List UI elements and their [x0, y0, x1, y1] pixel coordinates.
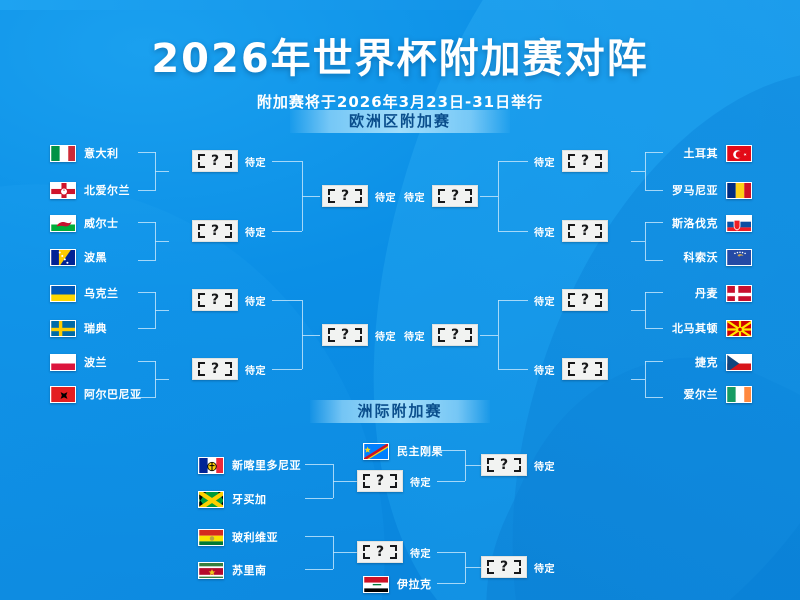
bolivia-flag: [198, 529, 224, 546]
tbd-slot[interactable]: ? 待定: [357, 541, 431, 563]
tbd-label: 待定: [534, 362, 555, 377]
page-title: 2026年世界杯附加赛对阵: [0, 26, 800, 84]
question-mark-icon: ?: [562, 150, 608, 172]
bracket-line: [437, 450, 465, 451]
poland-flag: [50, 354, 76, 371]
albania-flag: [50, 386, 76, 403]
tbd-slot[interactable]: ? 待定: [192, 358, 266, 380]
header: 2026年世界杯附加赛对阵 附加赛将于2026年3月23日-31日举行: [0, 26, 800, 112]
bracket-line: [155, 241, 169, 242]
bracket-line: [645, 361, 663, 362]
bracket-line: [498, 161, 528, 162]
team-row[interactable]: 波兰: [50, 352, 107, 372]
tbd-slot[interactable]: ? 待定: [534, 358, 608, 380]
tbd-label: 待定: [534, 154, 555, 169]
team-name: 土耳其: [684, 145, 719, 161]
tbd-slot[interactable]: ? 待定: [534, 289, 608, 311]
team-row[interactable]: 波黑: [50, 247, 107, 267]
tbd-slot[interactable]: ? 待定: [192, 220, 266, 242]
page-subtitle: 附加赛将于2026年3月23日-31日举行: [0, 91, 800, 112]
team-row[interactable]: 科索沃: [684, 247, 753, 267]
team-row[interactable]: 威尔士: [50, 213, 119, 233]
bracket-line: [498, 300, 499, 369]
bracket-line: [138, 222, 156, 223]
question-mark-icon: ?: [192, 289, 238, 311]
team-row[interactable]: 牙买加: [198, 489, 267, 509]
team-row[interactable]: 民主刚果: [363, 441, 443, 461]
question-mark-icon: ?: [481, 556, 527, 578]
bracket-line: [272, 161, 302, 162]
tbd-label: 待定: [245, 224, 266, 239]
bracket-line: [645, 328, 663, 329]
kosovo-flag: [726, 249, 752, 266]
bracket-line: [155, 171, 169, 172]
team-name: 捷克: [695, 354, 718, 370]
team-name: 北爱尔兰: [84, 182, 130, 198]
team-name: 苏里南: [232, 562, 267, 578]
bracket-line: [480, 196, 498, 197]
team-row[interactable]: 北爱尔兰: [50, 180, 130, 200]
bracket-line: [305, 464, 333, 465]
question-mark-icon: ?: [562, 289, 608, 311]
team-row[interactable]: 玻利维亚: [198, 527, 278, 547]
section-banner-europe: 欧洲区附加赛: [290, 110, 510, 133]
tbd-label: 待定: [245, 293, 266, 308]
team-row[interactable]: 北马其顿: [672, 318, 752, 338]
bracket-line: [480, 335, 498, 336]
dr-congo-flag: [363, 443, 389, 460]
new-caledonia-flag: [198, 457, 224, 474]
question-mark-icon: ?: [357, 541, 403, 563]
tbd-label: 待定: [245, 362, 266, 377]
bracket-line: [437, 481, 465, 482]
team-name: 威尔士: [84, 215, 119, 231]
northern-ireland-flag: [50, 182, 76, 199]
team-row[interactable]: 斯洛伐克: [672, 213, 752, 233]
bracket-line: [631, 310, 645, 311]
tbd-slot[interactable]: ? 待定: [322, 324, 396, 346]
bracket-line: [272, 369, 302, 370]
bosnia-flag: [50, 249, 76, 266]
bracket-line: [465, 567, 481, 568]
bracket-line: [138, 361, 156, 362]
team-name: 科索沃: [684, 249, 719, 265]
team-name: 伊拉克: [397, 576, 432, 592]
bracket-line: [333, 481, 357, 482]
team-row[interactable]: 捷克: [695, 352, 752, 372]
bracket-line: [645, 152, 663, 153]
slovakia-flag: [726, 215, 752, 232]
bracket-line: [437, 583, 465, 584]
bracket-line: [138, 152, 156, 153]
turkey-flag: [726, 145, 752, 162]
tbd-slot[interactable]: ? 待定: [322, 185, 396, 207]
team-row[interactable]: 苏里南: [198, 560, 267, 580]
question-mark-icon: ?: [562, 220, 608, 242]
bracket-line: [631, 171, 645, 172]
team-row[interactable]: 乌克兰: [50, 283, 119, 303]
question-mark-icon: ?: [192, 358, 238, 380]
north-macedonia-flag: [726, 320, 752, 337]
question-mark-icon: ?: [322, 324, 368, 346]
question-mark-icon: ?: [322, 185, 368, 207]
czech-flag: [726, 354, 752, 371]
tbd-slot[interactable]: ? 待定: [534, 150, 608, 172]
tbd-slot[interactable]: ? 待定: [404, 185, 478, 207]
question-mark-icon: ?: [192, 150, 238, 172]
team-row[interactable]: 土耳其: [684, 143, 753, 163]
team-name: 斯洛伐克: [672, 215, 718, 231]
playoff-bracket-infographic: 2026年世界杯附加赛对阵 附加赛将于2026年3月23日-31日举行 欧洲区附…: [0, 0, 800, 600]
wales-flag: [50, 215, 76, 232]
bracket-line: [465, 465, 481, 466]
tbd-label: 待定: [410, 545, 431, 560]
bracket-line: [272, 300, 302, 301]
tbd-label: 待定: [404, 328, 425, 343]
bracket-line: [645, 260, 663, 261]
question-mark-icon: ?: [562, 358, 608, 380]
team-name: 爱尔兰: [684, 386, 719, 402]
ukraine-flag: [50, 285, 76, 302]
bracket-line: [305, 536, 333, 537]
team-name: 玻利维亚: [232, 529, 278, 545]
team-name: 丹麦: [695, 285, 718, 301]
bracket-line: [138, 397, 156, 398]
team-name: 阿尔巴尼亚: [84, 386, 142, 402]
bracket-line: [305, 498, 333, 499]
ireland-flag: [726, 386, 752, 403]
tbd-slot[interactable]: ? 待定: [534, 220, 608, 242]
tbd-label: 待定: [404, 189, 425, 204]
bracket-line: [631, 379, 645, 380]
tbd-slot[interactable]: ? 待定: [404, 324, 478, 346]
bracket-line: [645, 397, 663, 398]
question-mark-icon: ?: [432, 324, 478, 346]
bracket-line: [272, 231, 302, 232]
bracket-line: [631, 241, 645, 242]
bracket-line: [645, 222, 646, 260]
bracket-line: [498, 161, 499, 231]
bracket-line: [333, 552, 357, 553]
team-row[interactable]: 丹麦: [695, 283, 752, 303]
team-row[interactable]: 意大利: [50, 143, 119, 163]
question-mark-icon: ?: [192, 220, 238, 242]
bracket-line: [645, 292, 663, 293]
bracket-line: [645, 361, 646, 397]
sweden-flag: [50, 320, 76, 337]
team-name: 瑞典: [84, 320, 107, 336]
team-row[interactable]: 罗马尼亚: [672, 180, 752, 200]
tbd-label: 待定: [245, 154, 266, 169]
section-banner-intercontinental: 洲际附加赛: [310, 400, 490, 423]
team-name: 新喀里多尼亚: [232, 457, 301, 473]
tbd-slot[interactable]: ? 待定: [481, 556, 555, 578]
bracket-line: [155, 379, 169, 380]
bracket-line: [645, 222, 663, 223]
team-row[interactable]: 新喀里多尼亚: [198, 455, 301, 475]
italy-flag: [50, 145, 76, 162]
tbd-label: 待定: [534, 224, 555, 239]
team-row[interactable]: 伊拉克: [363, 574, 432, 594]
bracket-line: [138, 328, 156, 329]
team-row[interactable]: 爱尔兰: [684, 384, 753, 404]
question-mark-icon: ?: [357, 470, 403, 492]
bracket-line: [155, 310, 169, 311]
tbd-slot[interactable]: ? 待定: [192, 289, 266, 311]
team-name: 罗马尼亚: [672, 182, 718, 198]
tbd-slot[interactable]: ? 待定: [192, 150, 266, 172]
team-name: 意大利: [84, 145, 119, 161]
romania-flag: [726, 182, 752, 199]
team-name: 北马其顿: [672, 320, 718, 336]
tbd-label: 待定: [410, 474, 431, 489]
bracket-line: [645, 292, 646, 328]
tbd-label: 待定: [534, 293, 555, 308]
team-name: 乌克兰: [84, 285, 119, 301]
bracket-line: [645, 152, 646, 190]
bracket-line: [305, 569, 333, 570]
tbd-label: 待定: [534, 560, 555, 575]
bracket-line: [302, 196, 320, 197]
team-name: 牙买加: [232, 491, 267, 507]
tbd-label: 待定: [534, 458, 555, 473]
team-row[interactable]: 阿尔巴尼亚: [50, 384, 142, 404]
tbd-slot[interactable]: ? 待定: [357, 470, 431, 492]
bracket-line: [138, 292, 156, 293]
jamaica-flag: [198, 491, 224, 508]
team-name: 波黑: [84, 249, 107, 265]
bracket-line: [437, 552, 465, 553]
tbd-slot[interactable]: ? 待定: [481, 454, 555, 476]
team-name: 民主刚果: [397, 443, 443, 459]
team-row[interactable]: 瑞典: [50, 318, 107, 338]
team-name: 波兰: [84, 354, 107, 370]
bracket-line: [302, 335, 320, 336]
bracket-line: [138, 190, 156, 191]
question-mark-icon: ?: [481, 454, 527, 476]
bracket-line: [645, 190, 663, 191]
iraq-flag: [363, 576, 389, 593]
bracket-line: [498, 300, 528, 301]
tbd-label: 待定: [375, 328, 396, 343]
bracket-line: [498, 369, 528, 370]
denmark-flag: [726, 285, 752, 302]
suriname-flag: [198, 562, 224, 579]
top-accent-bar: [0, 0, 800, 10]
question-mark-icon: ?: [432, 185, 478, 207]
bracket-line: [498, 231, 528, 232]
tbd-label: 待定: [375, 189, 396, 204]
bracket-line: [138, 260, 156, 261]
